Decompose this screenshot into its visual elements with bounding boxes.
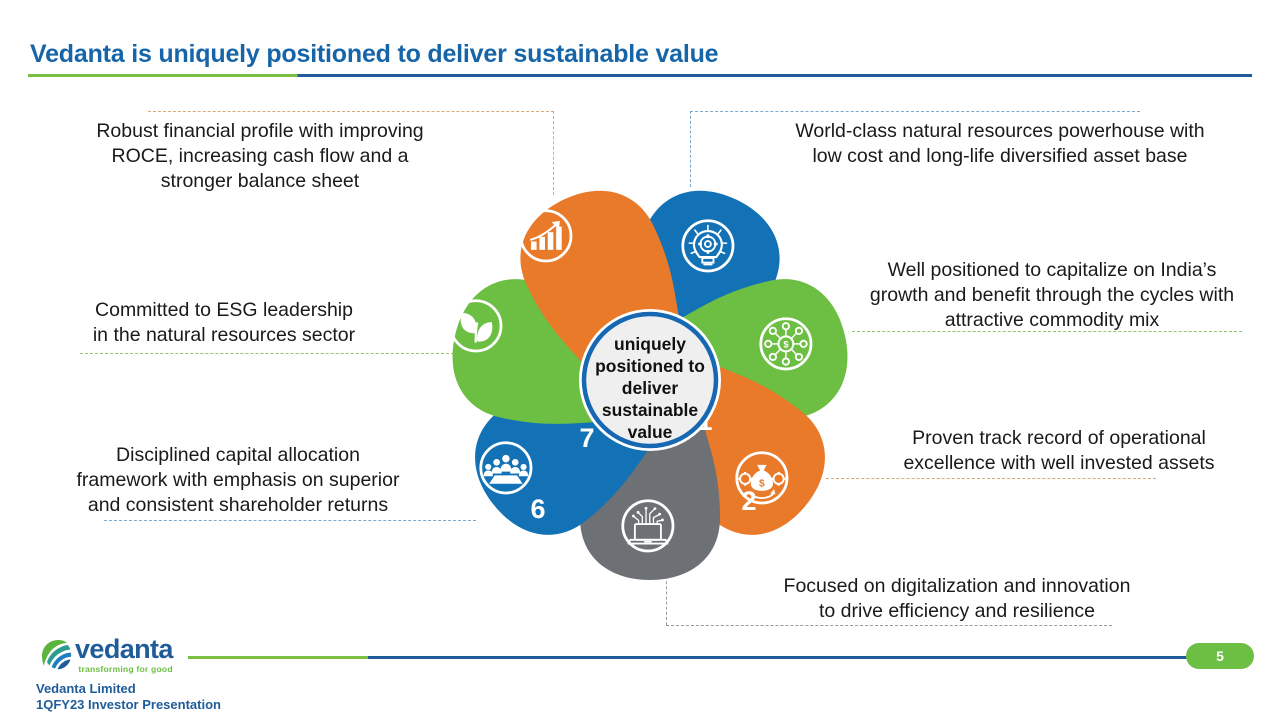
callout-7-line-1: Robust financial profile with improving <box>74 119 446 144</box>
callout-2: Well positioned to capitalize on India’s… <box>848 258 1256 333</box>
callout-6-line-1: Committed to ESG leadership <box>70 298 378 323</box>
callout-6: Committed to ESG leadership in the natur… <box>70 298 378 348</box>
callout-7: Robust financial profile with improving … <box>74 119 446 194</box>
connector-1-horizontal <box>690 111 1140 112</box>
seven-petal-diagram: 1 2 3 4 5 6 7 <box>420 150 880 610</box>
petal-7-number: 7 <box>579 423 594 453</box>
callout-2-line-2: growth and benefit through the cycles wi… <box>848 283 1256 308</box>
callout-2-line-3: attractive commodity mix <box>848 308 1256 333</box>
connector-2-horizontal <box>852 331 1242 332</box>
vedanta-tagline: transforming for good <box>72 664 173 674</box>
callout-3-line-1: Proven track record of operational <box>858 426 1260 451</box>
svg-text:$: $ <box>759 478 765 489</box>
callout-2-line-1: Well positioned to capitalize on India’s <box>848 258 1256 283</box>
center-line-3: deliver <box>622 378 679 398</box>
center-line-1: uniquely <box>614 334 686 354</box>
callout-5-line-3: and consistent shareholder returns <box>60 493 416 518</box>
page-number-badge: 5 <box>1186 643 1254 669</box>
callout-5-line-2: framework with emphasis on superior <box>60 468 416 493</box>
footer-company-name: Vedanta Limited <box>36 681 221 697</box>
callout-7-line-2: ROCE, increasing cash flow and a <box>74 144 446 169</box>
center-line-2: positioned to <box>595 356 705 376</box>
callout-3-line-2: excellence with well invested assets <box>858 451 1260 476</box>
petal-5-number: 5 <box>550 587 565 610</box>
vedanta-logo: vedanta transforming for good <box>38 636 173 674</box>
center-line-5: value <box>628 422 673 442</box>
callout-6-line-2: in the natural resources sector <box>70 323 378 348</box>
connector-4-horizontal <box>666 625 1112 626</box>
center-line-4: sustainable <box>602 400 699 420</box>
callout-3: Proven track record of operational excel… <box>858 426 1260 476</box>
title-divider <box>28 74 1252 77</box>
vedanta-wordmark: vedanta <box>75 636 173 663</box>
connector-6-horizontal <box>80 353 454 354</box>
callout-1-line-1: World-class natural resources powerhouse… <box>770 119 1230 144</box>
footer-presentation-name: 1QFY23 Investor Presentation <box>36 697 221 713</box>
petal-3-number: 3 <box>718 574 733 604</box>
footer-divider <box>188 656 1188 659</box>
vedanta-globe-icon <box>38 636 72 670</box>
petal-6-number: 6 <box>530 494 545 524</box>
svg-text:$: $ <box>783 340 789 350</box>
callout-7-line-3: stronger balance sheet <box>74 169 446 194</box>
connector-7-horizontal <box>148 111 554 112</box>
callout-5: Disciplined capital allocation framework… <box>60 443 416 518</box>
footer-company-block: Vedanta Limited 1QFY23 Investor Presenta… <box>36 681 221 713</box>
callout-5-line-1: Disciplined capital allocation <box>60 443 416 468</box>
page-title: Vedanta is uniquely positioned to delive… <box>30 40 718 69</box>
